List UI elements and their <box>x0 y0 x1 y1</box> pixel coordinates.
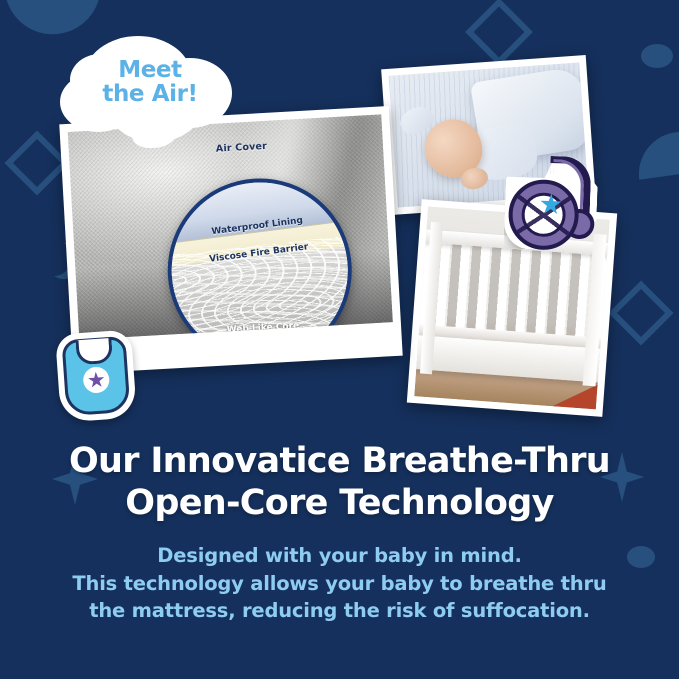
diamond-outline-top-shape <box>465 0 533 66</box>
cloud-text: Meet the Air! <box>60 58 240 107</box>
layer-magnifier: Waterproof Lining Viscose Fire Barrier W… <box>163 173 357 339</box>
flower-icon <box>87 371 105 389</box>
bib-icon <box>61 336 130 416</box>
meet-the-air-cloud: Meet the Air! <box>60 36 240 144</box>
bib-neck-opening <box>75 338 113 365</box>
baby-rattle-sticker <box>503 156 598 251</box>
half-circle-top-left-shape <box>5 0 107 40</box>
subcopy-line-1: Designed with your baby in mind. <box>0 542 679 570</box>
cloud-line-2: the Air! <box>102 81 197 107</box>
headline-line-2: Open-Core Technology <box>0 482 679 524</box>
page-subtitle: Designed with your baby in mind. This te… <box>0 542 679 625</box>
bib-flower-badge <box>82 366 110 394</box>
half-circle-right-shape <box>633 126 679 180</box>
cloud-line-1: Meet <box>118 57 181 83</box>
circle-top-right-shape <box>641 44 673 68</box>
subcopy-line-2: This technology allows your baby to brea… <box>0 570 679 598</box>
page-title: Our Innovatice Breathe-Thru Open-Core Te… <box>0 440 679 524</box>
subcopy-line-3: the mattress, reducing the risk of suffo… <box>0 597 679 625</box>
diamond-outline-right-shape <box>608 280 673 345</box>
rattle-spokes <box>512 183 576 247</box>
headline-line-1: Our Innovatice Breathe-Thru <box>0 440 679 482</box>
promo-banner: Air Cover Waterproof Lining Viscose Fire… <box>0 0 679 679</box>
mattress-photo-image: Air Cover Waterproof Lining Viscose Fire… <box>68 114 393 339</box>
baby-bib-sticker <box>55 329 137 422</box>
